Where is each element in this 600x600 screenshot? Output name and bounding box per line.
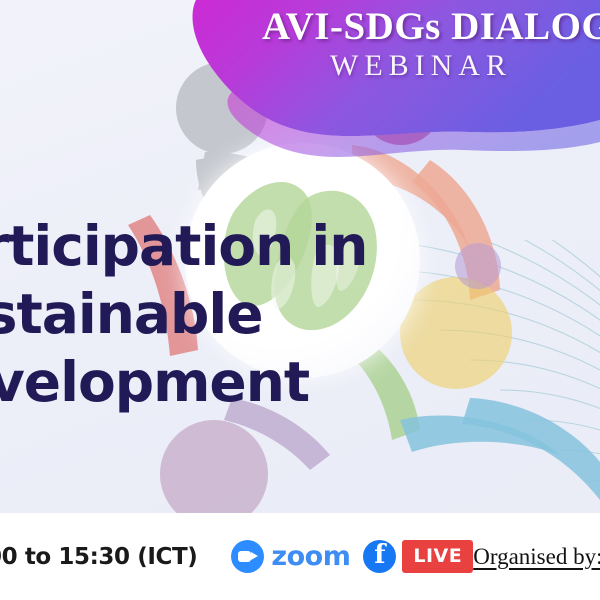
mauve-circle [160,420,268,528]
zoom-camera-icon [231,540,264,573]
poster-subtitle: WEBINAR [0,49,600,83]
headline-line-2: Sustainable [0,280,428,348]
event-time-text: 00 to 15:30 (ICT) [0,544,197,570]
zoom-logo[interactable]: zoom [231,540,350,573]
live-badge: LIVE [402,540,473,573]
platform-logos: zoom f LIVE [231,540,473,573]
banner-title-block: AVI-SDGs DIALOGUE WEBINAR [0,0,600,112]
headline-line-1: Participation in [0,212,428,280]
facebook-f-icon: f [363,540,396,573]
footer-bar: 00 to 15:30 (ICT) zoom f LIVE Organised … [0,513,600,600]
organiser-block: Organised by: [473,533,600,581]
webinar-poster: AVI-SDGs DIALOGUE WEBINAR Participation … [0,0,600,600]
poster-title: AVI-SDGs DIALOGUE [0,0,600,49]
organised-by-label: Organised by: [473,544,600,570]
facebook-live-group[interactable]: f LIVE [363,540,473,573]
zoom-wordmark: zoom [271,541,350,572]
headline-line-3: Development [0,348,428,416]
headline-block: Participation in Sustainable Development [0,212,428,416]
purple-circle-small [455,243,501,289]
